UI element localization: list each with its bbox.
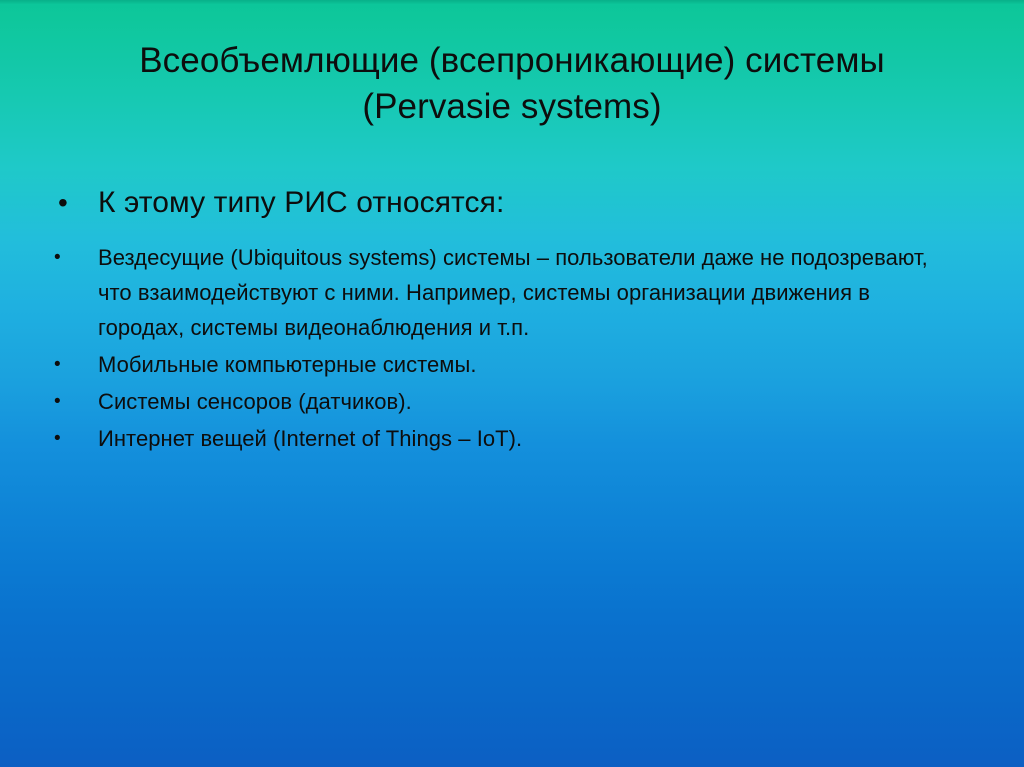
bullet-dot-icon: •	[54, 384, 98, 419]
slide-title-line-1: Всеобъемлющие (всепроникающие) системы	[52, 38, 972, 84]
bullet-text: Вездесущие (Ubiquitous systems) системы …	[98, 240, 936, 345]
bullet-item-level2: • Мобильные компьютерные системы.	[0, 347, 1024, 382]
bullet-item-level2: • Системы сенсоров (датчиков).	[0, 384, 1024, 419]
bullet-text: Системы сенсоров (датчиков).	[98, 384, 412, 419]
slide-title: Всеобъемлющие (всепроникающие) системы (…	[52, 38, 972, 130]
bullet-item-level2: • Вездесущие (Ubiquitous systems) систем…	[0, 240, 1024, 345]
slide-body: • К этому типу РИС относятся: • Вездесущ…	[0, 182, 1024, 458]
bullet-text: Мобильные компьютерные системы.	[98, 347, 477, 382]
bullet-text: К этому типу РИС относятся:	[98, 182, 504, 224]
bullet-dot-icon: •	[58, 182, 98, 224]
bullet-item-level1: • К этому типу РИС относятся:	[0, 182, 1024, 224]
presentation-slide: Всеобъемлющие (всепроникающие) системы (…	[0, 0, 1024, 767]
top-edge-band	[0, 0, 1024, 4]
bullet-text: Интернет вещей (Internet of Things – IoT…	[98, 421, 522, 456]
spacer	[0, 232, 1024, 240]
bullet-dot-icon: •	[54, 347, 98, 382]
slide-title-line-2: (Pervasie systems)	[52, 84, 972, 130]
bullet-dot-icon: •	[54, 240, 98, 275]
bullet-item-level2: • Интернет вещей (Internet of Things – I…	[0, 421, 1024, 456]
bullet-dot-icon: •	[54, 421, 98, 456]
